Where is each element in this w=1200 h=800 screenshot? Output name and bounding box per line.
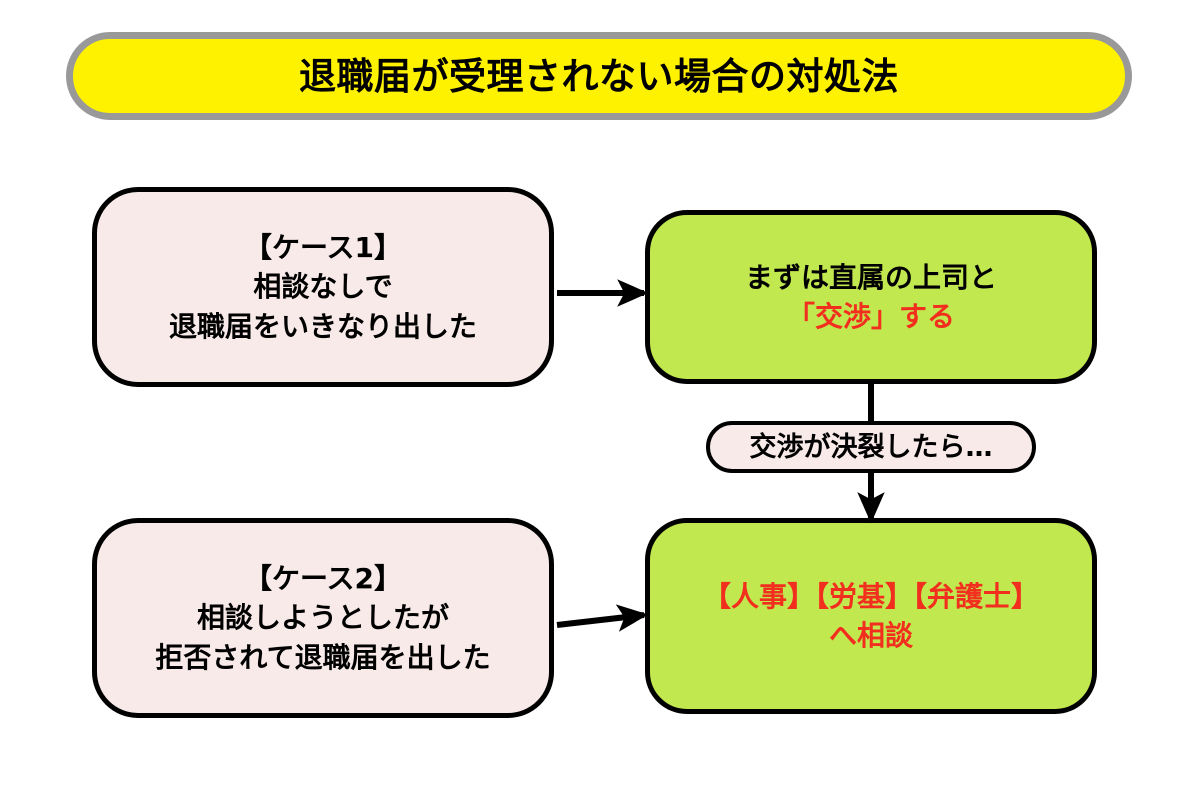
case-1-line-2: 相談なしで [169,267,477,306]
action-consult-line-2: へ相談 [703,616,1039,655]
connector-label-pill: 交渉が決裂したら… [706,421,1036,473]
page-title: 退職届が受理されない場合の対処法 [299,58,899,95]
action-consult-text: 【人事】【労基】【弁護士】 へ相談 [703,577,1039,655]
action-negotiate-line-2: 「交渉」する [745,297,997,336]
case-1-box[interactable]: 【ケース1】 相談なしで 退職届をいきなり出した [92,187,554,387]
case-1-text: 【ケース1】 相談なしで 退職届をいきなり出した [169,228,477,346]
case-2-box[interactable]: 【ケース2】 相談しようとしたが 拒否されて退職届を出した [92,518,554,718]
case-1-line-1: 【ケース1】 [169,228,477,267]
title-banner: 退職届が受理されない場合の対処法 [66,32,1132,120]
case-2-line-1: 【ケース2】 [155,559,490,598]
case-1-line-3: 退職届をいきなり出した [169,307,477,346]
arrow-case2-to-action2 [557,615,644,625]
case-2-text: 【ケース2】 相談しようとしたが 拒否されて退職届を出した [155,559,490,677]
action-consult-box[interactable]: 【人事】【労基】【弁護士】 へ相談 [645,518,1097,714]
action-negotiate-text: まずは直属の上司と 「交渉」する [745,258,997,336]
action-negotiate-line-1: まずは直属の上司と [745,258,997,297]
case-2-line-3: 拒否されて退職届を出した [155,638,490,677]
connector-label-text: 交渉が決裂したら… [750,434,993,461]
case-2-line-2: 相談しようとしたが [155,598,490,637]
diagram-canvas: 退職届が受理されない場合の対処法 【ケース1】 相談なしで 退職届をいきなり出し… [0,0,1200,800]
action-consult-line-1: 【人事】【労基】【弁護士】 [703,577,1039,616]
action-negotiate-box[interactable]: まずは直属の上司と 「交渉」する [645,210,1097,384]
